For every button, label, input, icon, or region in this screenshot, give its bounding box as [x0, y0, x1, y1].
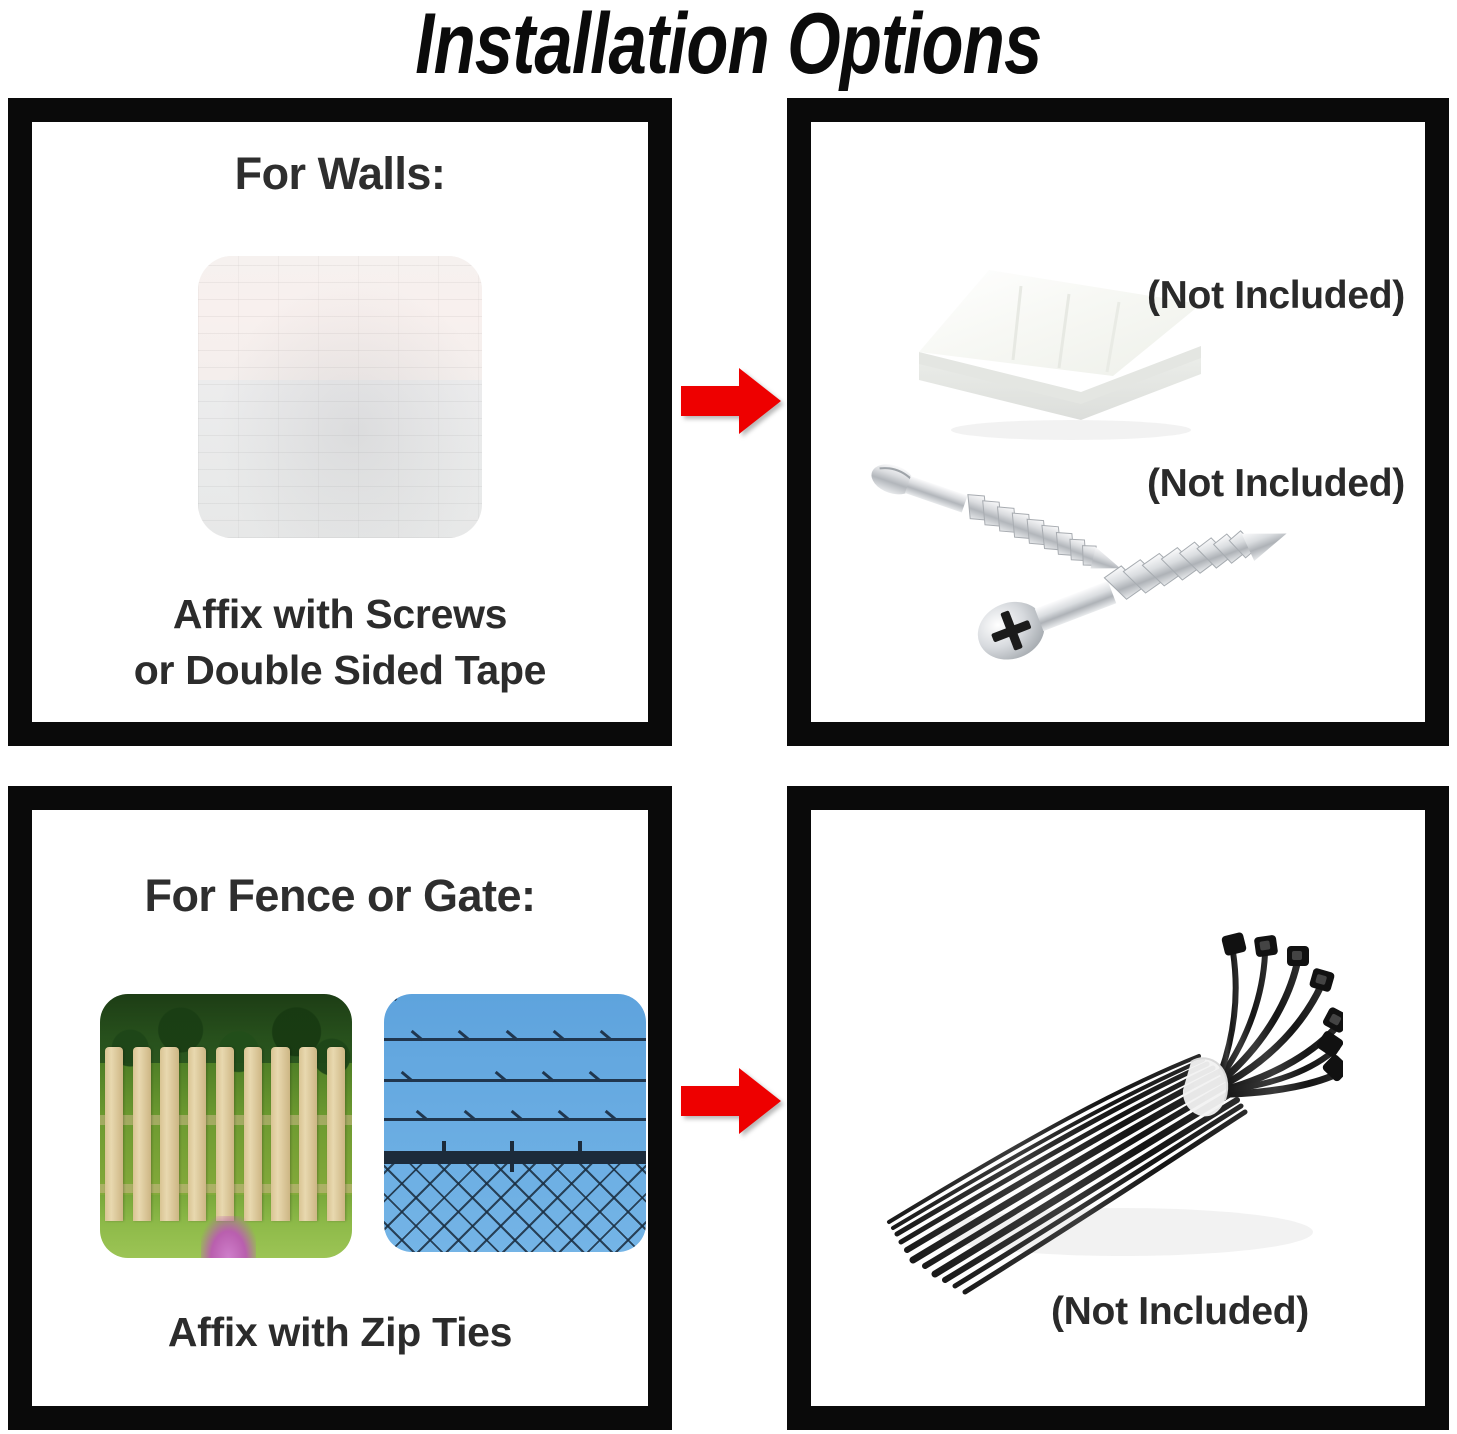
picket: [188, 1047, 206, 1221]
picket: [105, 1047, 123, 1221]
wood-screw-image-2: [961, 522, 1321, 682]
fence-top-rail: [384, 1151, 646, 1164]
panel-fence-hardware: (Not Included): [787, 786, 1449, 1430]
page-title: Installation Options: [415, 1, 1041, 91]
wooden-picket-fence-image: [100, 994, 352, 1258]
zip-ties-not-included-label: (Not Included): [1051, 1290, 1309, 1334]
arrow-right-icon: [681, 1064, 781, 1138]
panel-wall-hardware-inner: (Not Included): [811, 122, 1425, 722]
screws-not-included-label: (Not Included): [1147, 462, 1405, 506]
garden-path: [201, 1216, 256, 1258]
caption-line-1: Affix with Zip Ties: [32, 1305, 648, 1360]
panel-fence-hardware-inner: (Not Included): [811, 810, 1425, 1406]
white-brick-wall-image: [198, 256, 482, 538]
fence-post: [578, 1141, 582, 1162]
picket: [244, 1047, 262, 1221]
barbed-wire-strand-2: [384, 1079, 646, 1082]
picket: [327, 1047, 345, 1221]
panel-for-walls-heading: For Walls:: [32, 148, 648, 200]
page-title-bar: Installation Options: [0, 0, 1457, 92]
panel-for-walls: For Walls: Affix with Screws or Double S…: [8, 98, 672, 746]
caption-line-2: or Double Sided Tape: [32, 643, 648, 698]
chain-link-fence-image: [384, 994, 646, 1252]
fence-post: [442, 1141, 446, 1162]
picket: [299, 1047, 317, 1221]
picket: [133, 1047, 151, 1221]
panel-for-fence-or-gate: For Fence or Gate:: [8, 786, 672, 1430]
panel-wall-hardware: (Not Included): [787, 98, 1449, 746]
panel-for-fence-inner: For Fence or Gate:: [32, 810, 648, 1406]
tape-not-included-label: (Not Included): [1147, 274, 1405, 318]
caption-line-1: Affix with Screws: [32, 587, 648, 642]
black-zip-ties-bundle-image: [873, 902, 1343, 1302]
brick-wall-shading: [198, 256, 482, 538]
panel-for-fence-heading: For Fence or Gate:: [32, 870, 648, 922]
chain-link-mesh: [384, 1164, 646, 1252]
picket: [271, 1047, 289, 1221]
panel-for-fence-caption: Affix with Zip Ties: [32, 1305, 648, 1360]
panel-for-walls-inner: For Walls: Affix with Screws or Double S…: [32, 122, 648, 722]
picket: [216, 1047, 234, 1221]
picket: [160, 1047, 178, 1221]
panel-for-walls-caption: Affix with Screws or Double Sided Tape: [32, 587, 648, 698]
arrow-right-icon: [681, 364, 781, 438]
